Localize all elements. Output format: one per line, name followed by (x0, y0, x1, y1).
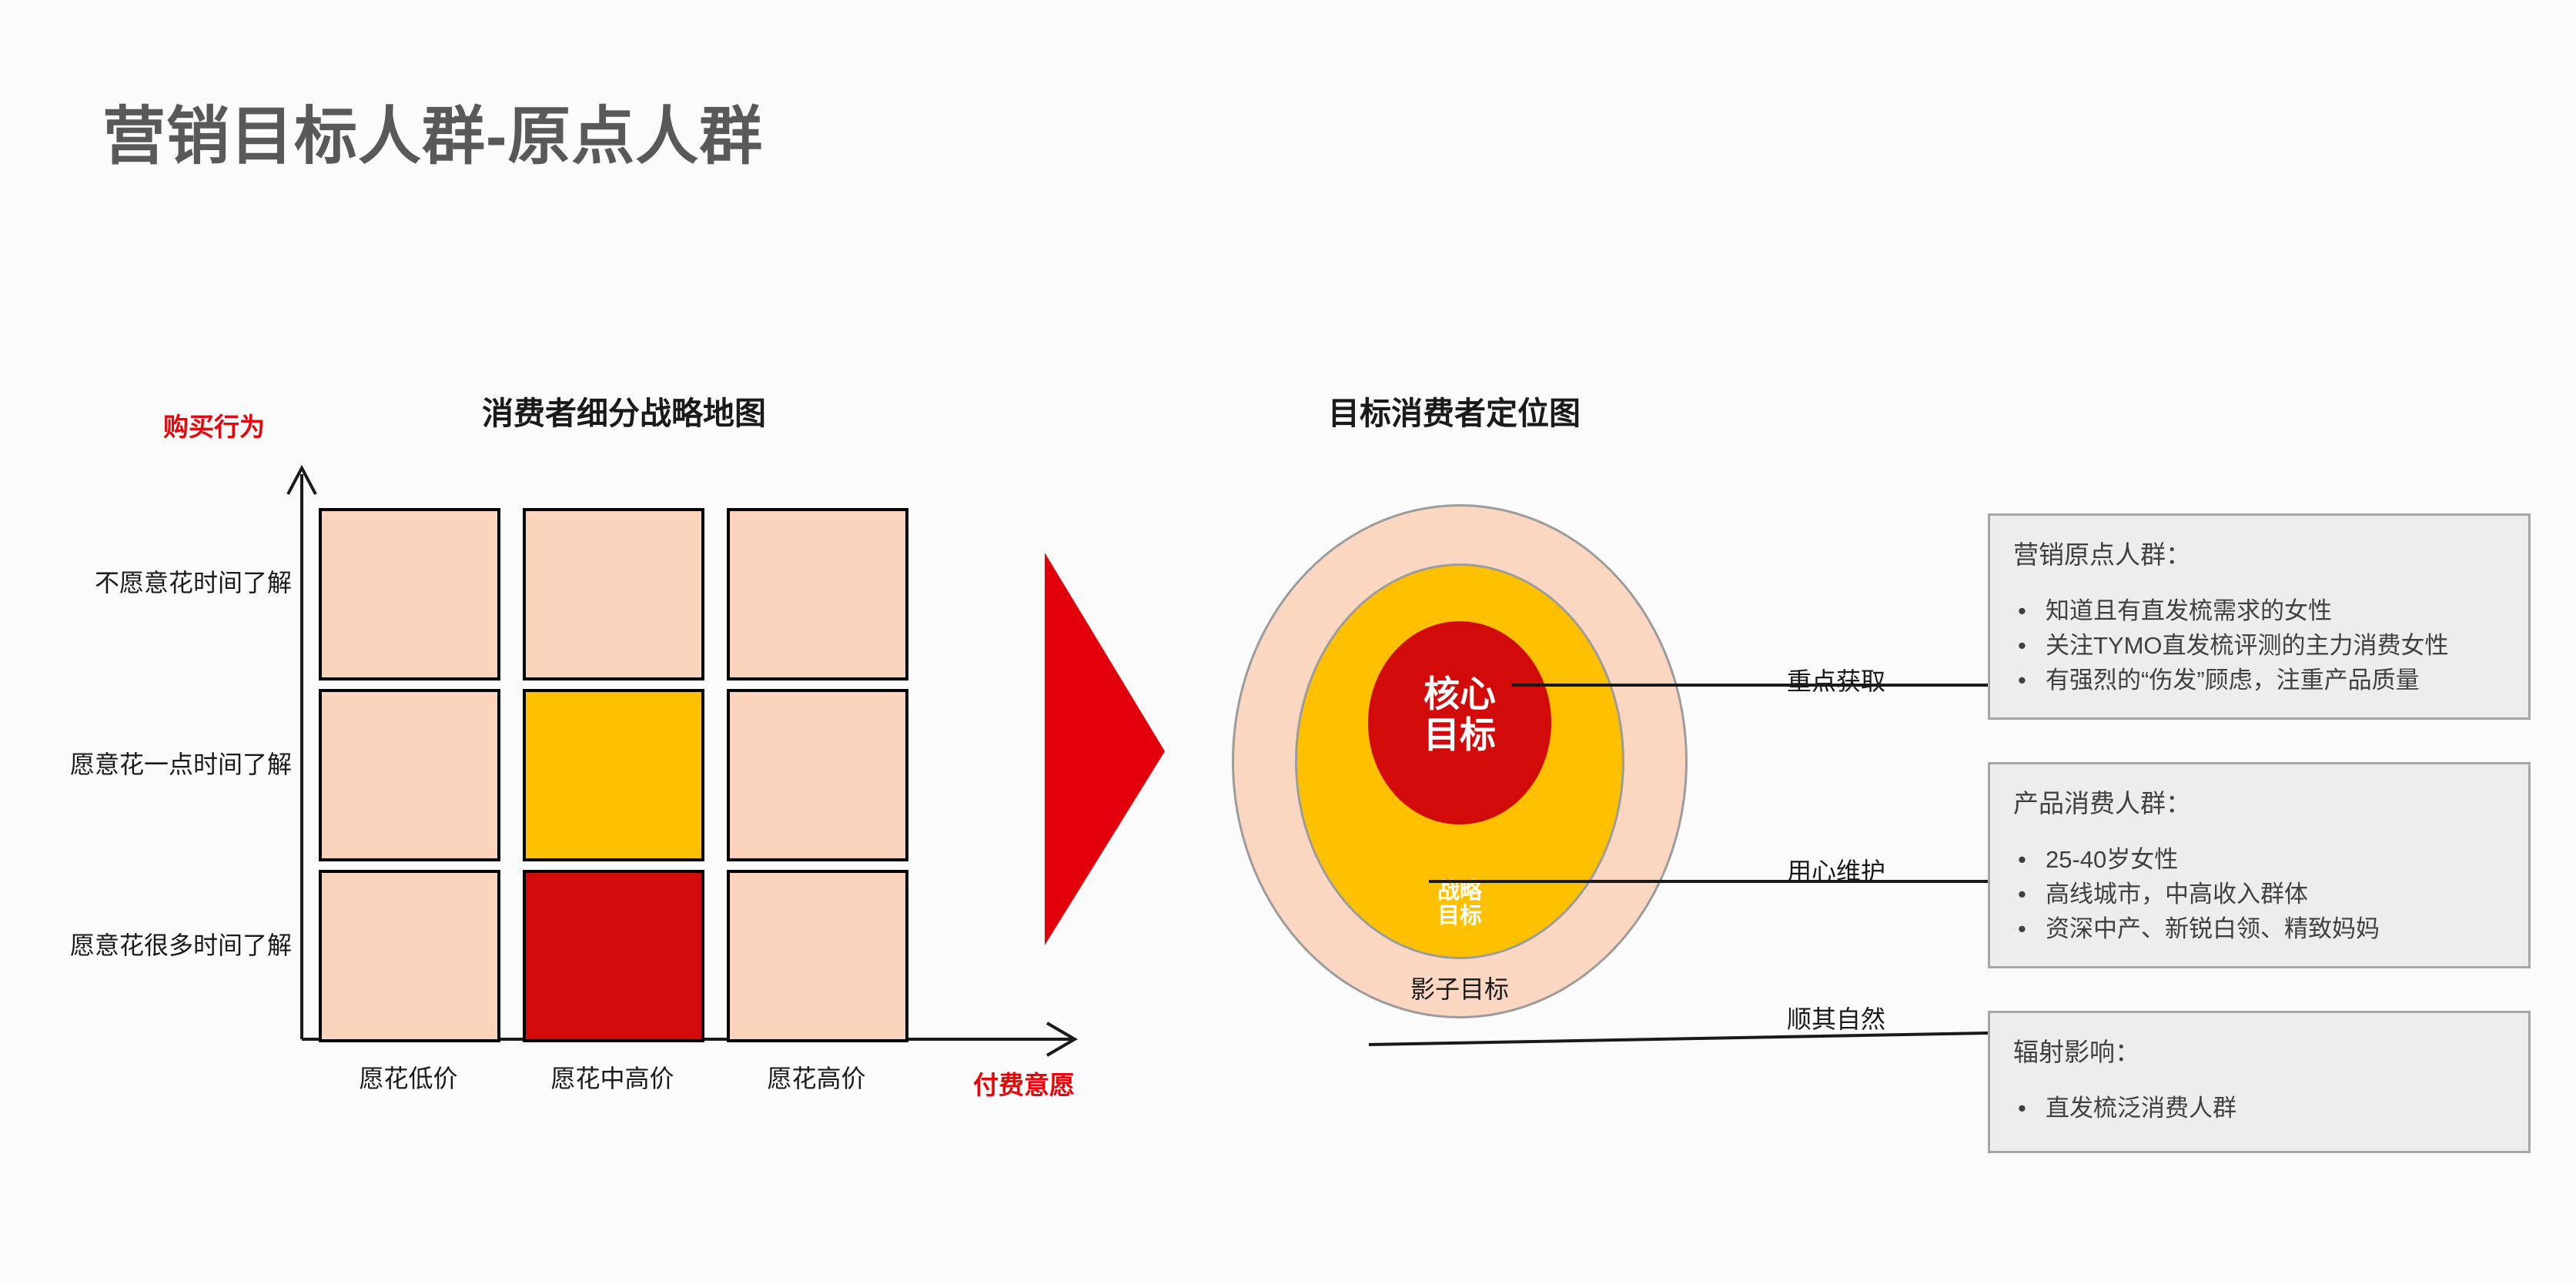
flow-arrow-icon (1043, 553, 1166, 945)
info-box-product-consumers: 产品消费人群： •25-40岁女性•高线城市，中高收入群体•资深中产、新锐白领、… (1988, 762, 2531, 968)
matrix-cell-r2-c2[interactable] (727, 870, 908, 1042)
info-bullet-1-2: •资深中产、新锐白领、精致妈妈 (2013, 912, 2505, 947)
bullet-dot-icon: • (2018, 878, 2026, 912)
bullet-dot-icon: • (2018, 629, 2026, 664)
connector-label-0: 重点获取 (1787, 662, 1885, 697)
info-bullet-text: 有强烈的“伤发”顾虑，注重产品质量 (2046, 667, 2420, 694)
bullet-dot-icon: • (2018, 664, 2026, 698)
info-bullet-text: 知道且有直发梳需求的女性 (2046, 597, 2332, 624)
matrix-cell-r0-c1[interactable] (523, 508, 704, 680)
strategic-target-label-line1: 战略 (1380, 879, 1540, 904)
connector-label-2: 顺其自然 (1787, 1000, 1885, 1035)
slide-canvas: 营销目标人群-原点人群 消费者细分战略地图 购买行为 付费意愿 不愿意花时间了解… (0, 0, 2576, 1284)
bullet-dot-icon: • (2018, 594, 2026, 629)
info-bullet-2-0: •直发梳泛消费人群 (2013, 1092, 2505, 1126)
matrix-col-label-0: 愿花低价 (306, 1059, 510, 1095)
matrix-heading: 消费者细分战略地图 (482, 387, 766, 433)
info-bullet-0-1: •关注TYMO直发梳评测的主力消费女性 (2013, 629, 2505, 664)
info-bullet-0-0: •知道且有直发梳需求的女性 (2013, 594, 2505, 629)
info-box-radiating-influence: 辐射影响： •直发梳泛消费人群 (1988, 1011, 2531, 1153)
core-target-label: 核心 目标 (1368, 674, 1551, 755)
core-target-label-line2: 目标 (1368, 715, 1551, 756)
info-box-list-1: •25-40岁女性•高线城市，中高收入群体•资深中产、新锐白领、精致妈妈 (2013, 843, 2505, 947)
strategic-target-label: 战略 目标 (1380, 879, 1540, 929)
info-bullet-text: 关注TYMO直发梳评测的主力消费女性 (2046, 632, 2449, 659)
strategic-target-label-line2: 目标 (1380, 904, 1540, 928)
circles-heading: 目标消费者定位图 (1328, 387, 1581, 433)
info-box-list-0: •知道且有直发梳需求的女性•关注TYMO直发梳评测的主力消费女性•有强烈的“伤发… (2013, 594, 2505, 698)
matrix-row-label-2: 愿意花很多时间了解 (70, 926, 292, 961)
info-bullet-text: 资深中产、新锐白领、精致妈妈 (2046, 915, 2380, 942)
target-consumer-circles: 核心 目标 战略 目标 影子目标 (1201, 477, 1740, 1062)
info-bullet-1-0: •25-40岁女性 (2013, 843, 2505, 878)
matrix-row-label-1: 愿意花一点时间了解 (70, 745, 292, 781)
info-bullet-1-1: •高线城市，中高收入群体 (2013, 878, 2505, 912)
core-target-label-line1: 核心 (1368, 674, 1551, 715)
matrix-cell-r1-c2[interactable] (727, 689, 908, 861)
matrix-cell-r0-c0[interactable] (319, 508, 500, 680)
y-axis-title: 购买行为 (163, 406, 265, 443)
info-box-list-2: •直发梳泛消费人群 (2013, 1092, 2505, 1126)
info-box-title-0: 营销原点人群： (2013, 534, 2505, 571)
shadow-target-label: 影子目标 (1364, 976, 1555, 1004)
matrix-col-label-2: 愿花高价 (714, 1059, 918, 1095)
info-bullet-text: 直发梳泛消费人群 (2046, 1095, 2236, 1122)
bullet-dot-icon: • (2018, 1092, 2026, 1126)
connector-label-1: 用心维护 (1787, 852, 1885, 888)
info-box-title-1: 产品消费人群： (2013, 783, 2505, 820)
info-bullet-text: 高线城市，中高收入群体 (2046, 881, 2308, 908)
bullet-dot-icon: • (2018, 843, 2026, 878)
info-box-marketing-origin: 营销原点人群： •知道且有直发梳需求的女性•关注TYMO直发梳评测的主力消费女性… (1988, 513, 2531, 720)
x-axis-title: 付费意愿 (973, 1065, 1075, 1102)
matrix-cell-r1-c0[interactable] (319, 689, 500, 861)
matrix-row-label-0: 不愿意花时间了解 (95, 563, 292, 599)
info-bullet-0-2: •有强烈的“伤发”顾虑，注重产品质量 (2013, 664, 2505, 698)
info-bullet-text: 25-40岁女性 (2046, 846, 2178, 873)
matrix-cell-r0-c2[interactable] (727, 508, 908, 680)
matrix-cell-r1-c1[interactable] (523, 689, 704, 861)
bullet-dot-icon: • (2018, 912, 2026, 947)
matrix-cell-r2-c1[interactable] (523, 870, 704, 1042)
info-box-title-2: 辐射影响： (2013, 1032, 2505, 1068)
matrix-col-label-1: 愿花中高价 (510, 1059, 714, 1095)
matrix-cell-r2-c0[interactable] (319, 870, 500, 1042)
